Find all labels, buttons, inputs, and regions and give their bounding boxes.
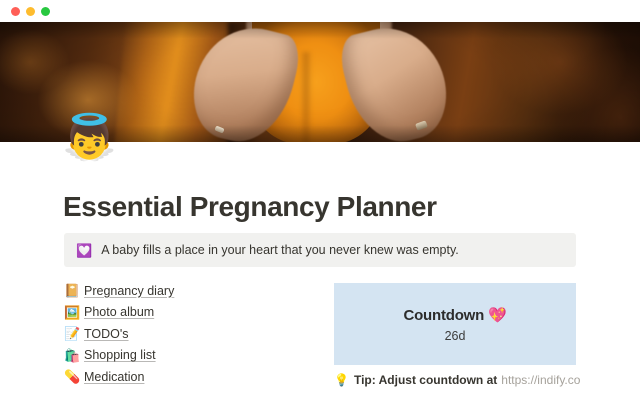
quote-callout-text: A baby fills a place in your heart that … — [101, 243, 459, 257]
list-item-photo-album[interactable]: 🖼️ Photo album — [64, 302, 314, 324]
app-window: 👼 Essential Pregnancy Planner 💟 A baby f… — [0, 0, 640, 400]
list-item-label[interactable]: Photo album — [84, 305, 154, 319]
list-item-label[interactable]: TODO's — [84, 327, 129, 341]
shopping-bags-icon: 🛍️ — [64, 349, 84, 362]
lightbulb-icon: 💡 — [334, 374, 349, 386]
countdown-value: 26d — [445, 329, 466, 343]
list-item-shopping-list[interactable]: 🛍️ Shopping list — [64, 345, 314, 367]
list-item-pregnancy-diary[interactable]: 📔 Pregnancy diary — [64, 280, 314, 302]
list-item-label[interactable]: Medication — [84, 370, 144, 384]
countdown-tip-url[interactable]: https://indify.co — [501, 373, 580, 387]
heart-decoration-icon: 💟 — [76, 244, 92, 257]
window-titlebar — [0, 0, 640, 22]
quote-callout[interactable]: 💟 A baby fills a place in your heart tha… — [64, 233, 576, 267]
page-title: Essential Pregnancy Planner — [63, 191, 437, 223]
baby-angel-icon[interactable]: 👼 — [62, 116, 117, 160]
minimize-window-button[interactable] — [26, 7, 35, 16]
countdown-title: Countdown 💖 — [403, 306, 506, 324]
countdown-tip-text: Tip: Adjust countdown at — [354, 373, 497, 387]
countdown-tip: 💡 Tip: Adjust countdown at https://indif… — [334, 373, 580, 387]
list-item-medication[interactable]: 💊 Medication — [64, 366, 314, 388]
close-window-button[interactable] — [11, 7, 20, 16]
list-item-label[interactable]: Shopping list — [84, 348, 156, 362]
list-item-todos[interactable]: 📝 TODO's — [64, 323, 314, 345]
list-item-label[interactable]: Pregnancy diary — [84, 284, 174, 298]
maximize-window-button[interactable] — [41, 7, 50, 16]
page-content: Essential Pregnancy Planner 💟 A baby fil… — [0, 142, 640, 400]
countdown-widget[interactable]: Countdown 💖 26d — [334, 283, 576, 365]
page-link-list: 📔 Pregnancy diary 🖼️ Photo album 📝 TODO'… — [64, 280, 314, 388]
memo-icon: 📝 — [64, 327, 84, 340]
pill-icon: 💊 — [64, 370, 84, 383]
framed-picture-icon: 🖼️ — [64, 306, 84, 319]
notebook-icon: 📔 — [64, 284, 84, 297]
